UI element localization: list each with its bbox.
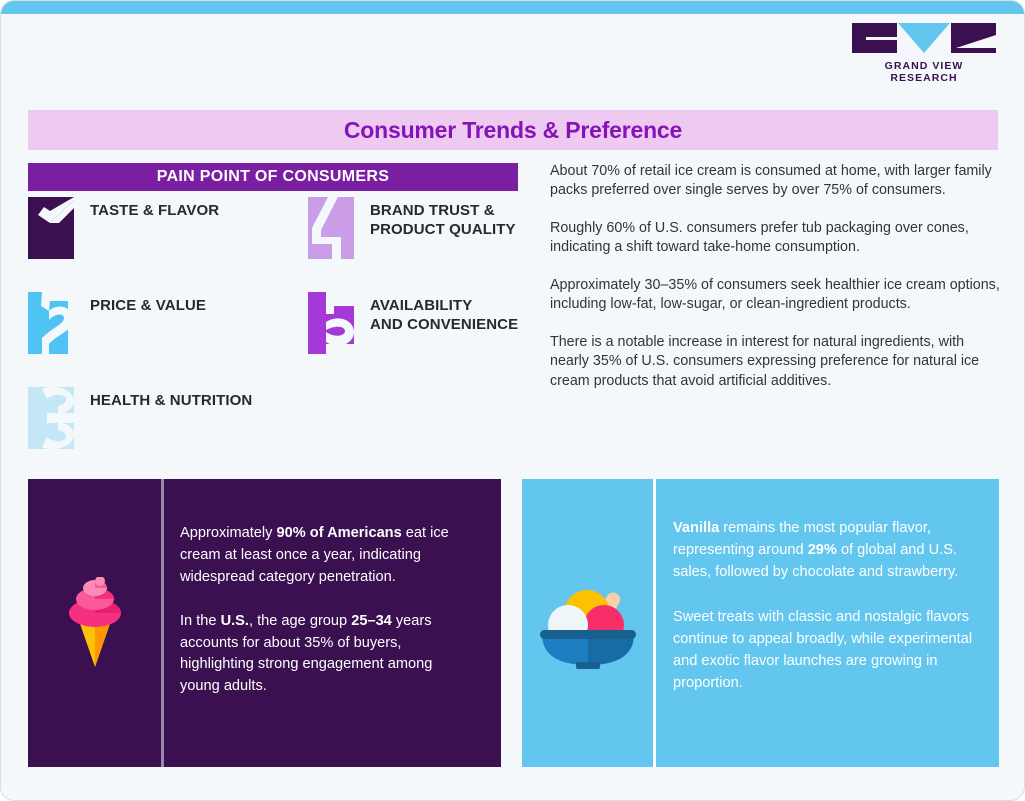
cone-image-pane [28,479,164,767]
pain-point-item-price: PRICE & VALUE [28,292,308,387]
consumption-paragraph-1: Approximately 90% of Americans eat ice c… [180,523,473,589]
pain-point-grid: TASTE & FLAVOR BRAND TRUST & PRODUCT QUA… [28,197,528,482]
pain-point-item-health: HEALTH & NUTRITION [28,387,308,482]
page-title: Consumer Trends & Preference [344,117,682,144]
pain-point-row: HEALTH & NUTRITION [28,387,528,482]
gvr-logo-icon [852,23,996,55]
top-accent-bar [1,1,1025,14]
stat-paragraph: Approximately 30–35% of consumers seek h… [550,276,1000,315]
flavor-paragraph-2: Sweet treats with classic and nostalgic … [673,606,977,695]
pain-point-item-taste: TASTE & FLAVOR [28,197,308,292]
flavor-text-pane: Vanilla remains the most popular flavor,… [656,479,999,767]
infographic-page: GRAND VIEW RESEARCH Consumer Trends & Pr… [0,0,1025,801]
title-banner: Consumer Trends & Preference [28,110,998,150]
ice-cream-bowl-illustration [538,577,638,669]
brand-name: GRAND VIEW RESEARCH [852,60,996,84]
number-four-icon [308,197,354,259]
pain-point-header-label: PAIN POINT OF CONSUMERS [157,168,389,186]
pain-point-item-availability: AVAILABILITY AND CONVENIENCE [308,292,528,387]
stats-column: About 70% of retail ice cream is consume… [550,162,1000,409]
brand-logo: GRAND VIEW RESEARCH [852,23,996,84]
pain-point-label: AVAILABILITY AND CONVENIENCE [370,292,518,334]
pain-point-label: HEALTH & NUTRITION [90,387,252,410]
logo-left-mark-icon [852,23,897,53]
number-three-icon [28,387,74,449]
consumption-card: Approximately 90% of Americans eat ice c… [28,479,501,767]
pain-point-label: PRICE & VALUE [90,292,206,315]
pain-point-item-brand-trust: BRAND TRUST & PRODUCT QUALITY [308,197,528,292]
logo-right-mark-icon [951,23,996,53]
number-five-icon [308,292,354,354]
stat-paragraph: Roughly 60% of U.S. consumers prefer tub… [550,219,1000,258]
stat-paragraph: There is a notable increase in interest … [550,333,1000,391]
consumption-paragraph-2: In the U.S., the age group 25–34 years a… [180,611,473,699]
consumption-text-pane: Approximately 90% of Americans eat ice c… [164,479,501,767]
flavor-card: Vanilla remains the most popular flavor,… [522,479,999,767]
pain-point-row: TASTE & FLAVOR BRAND TRUST & PRODUCT QUA… [28,197,528,292]
pain-point-row: PRICE & VALUE AVAILABILITY AND CONVENIEN… [28,292,528,387]
number-two-icon [28,292,74,354]
pain-point-label: TASTE & FLAVOR [90,197,219,220]
bowl-image-pane [522,479,656,767]
pain-point-header: PAIN POINT OF CONSUMERS [28,163,518,191]
logo-triangle-icon [898,23,950,53]
flavor-paragraph-1: Vanilla remains the most popular flavor,… [673,517,977,584]
stat-paragraph: About 70% of retail ice cream is consume… [550,162,1000,201]
pain-point-label: BRAND TRUST & PRODUCT QUALITY [370,197,516,239]
number-one-icon [28,197,74,259]
ice-cream-cone-illustration [61,577,129,669]
